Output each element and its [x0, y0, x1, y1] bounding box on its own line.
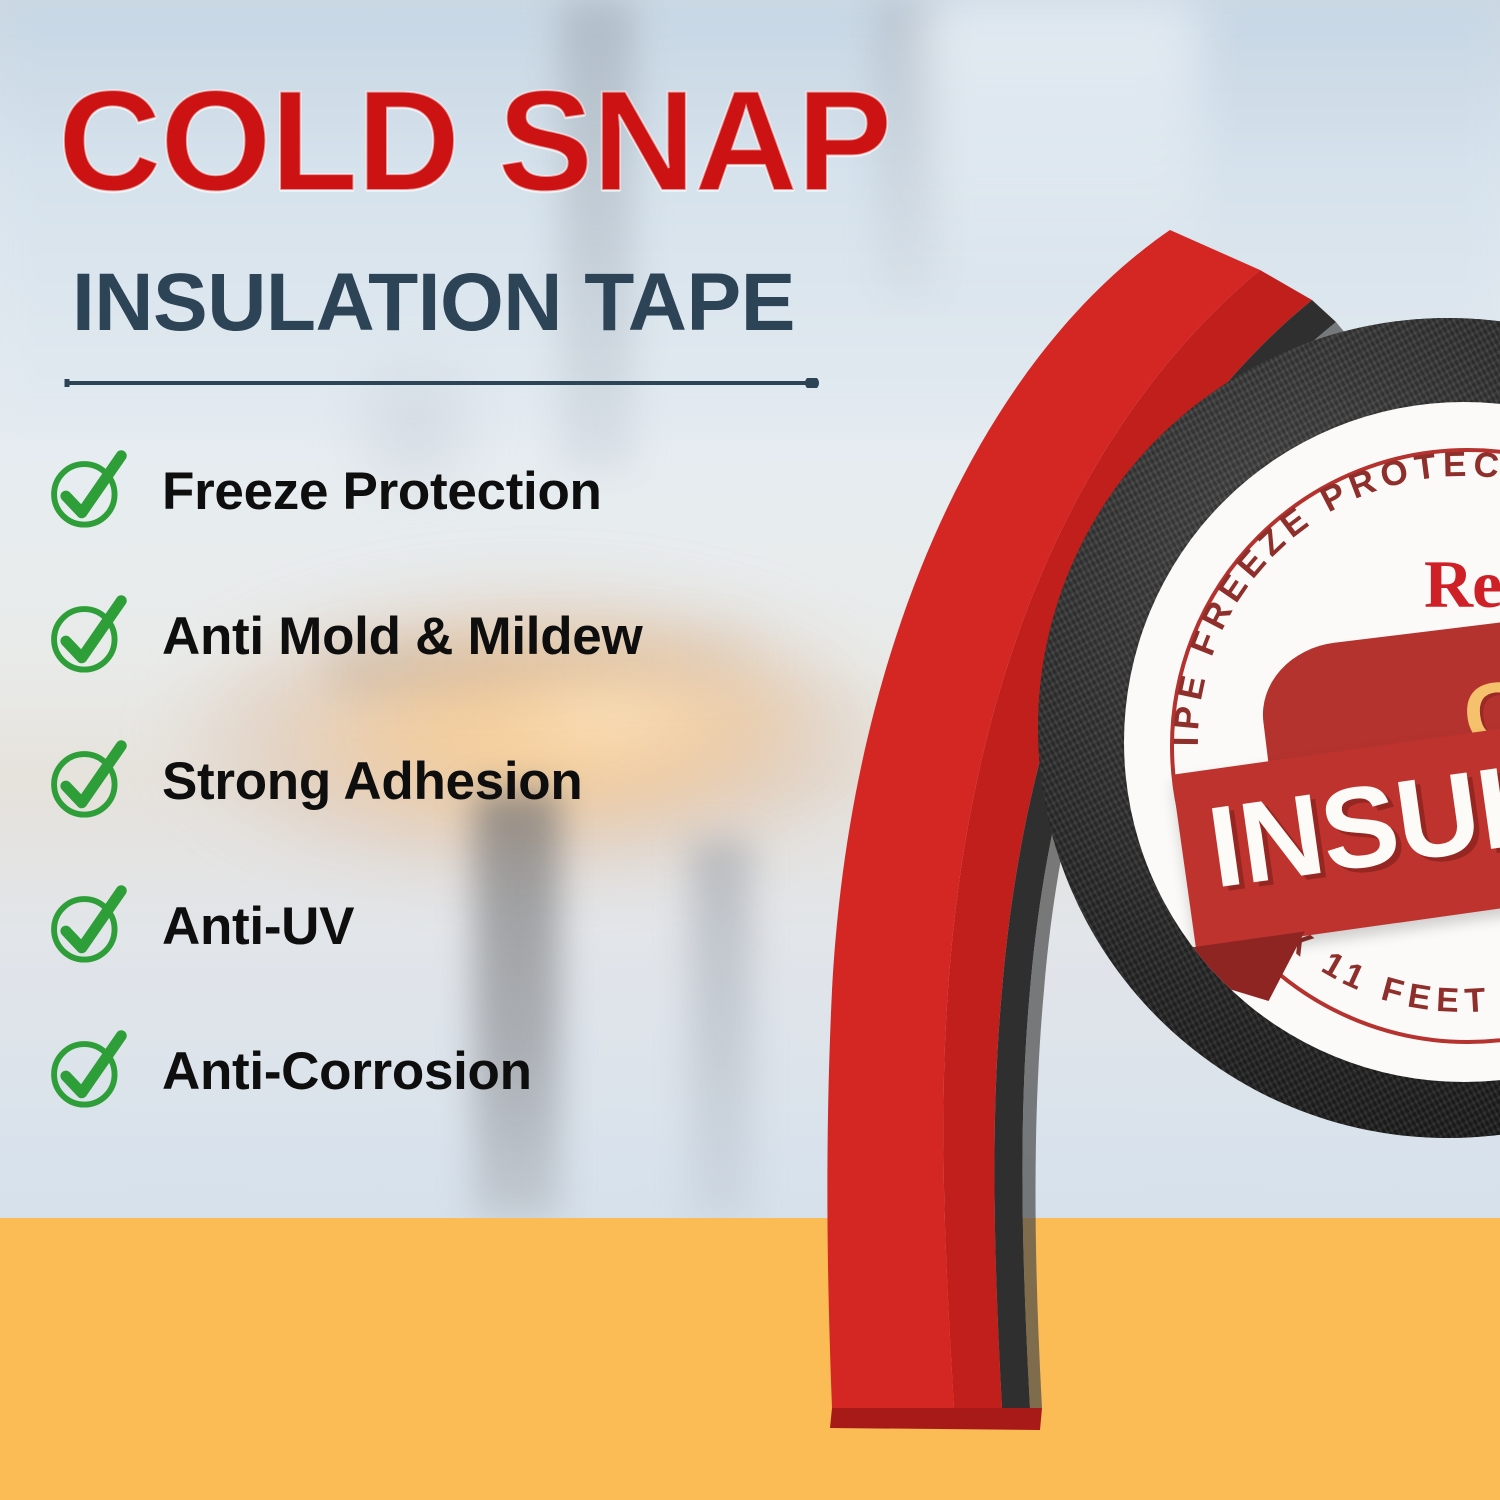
heat-thermometer-icon [1496, 1042, 1500, 1082]
feature-label: Anti-UV [162, 896, 354, 957]
feature-label: Anti-Corrosion [162, 1041, 532, 1102]
check-circle-icon [44, 449, 128, 533]
product-label: PIPE FREEZE PROTECT 4 INCH X 11 FEET Red… [1124, 402, 1500, 1082]
label-icon-row: HEAT RETAINING [1454, 1042, 1500, 1082]
page-subtitle: INSULATION TAPE [72, 262, 795, 344]
label-icon-cell: HEAT RETAINING [1454, 1042, 1500, 1082]
divider-rule [64, 378, 820, 388]
feature-label: Anti Mold & Mildew [162, 606, 642, 667]
check-circle-icon [44, 884, 128, 968]
feature-label: Strong Adhesion [162, 751, 582, 812]
check-circle-icon [44, 1029, 128, 1113]
feature-label: Freeze Protection [162, 461, 602, 522]
check-circle-icon [44, 739, 128, 823]
page-title: COLD SNAP [58, 70, 891, 213]
product-marketing-image: COLD SNAP INSULATION TAPE Freeze Protect… [0, 0, 1500, 1500]
brand-name: Redford [1424, 550, 1500, 618]
check-circle-icon [44, 594, 128, 678]
